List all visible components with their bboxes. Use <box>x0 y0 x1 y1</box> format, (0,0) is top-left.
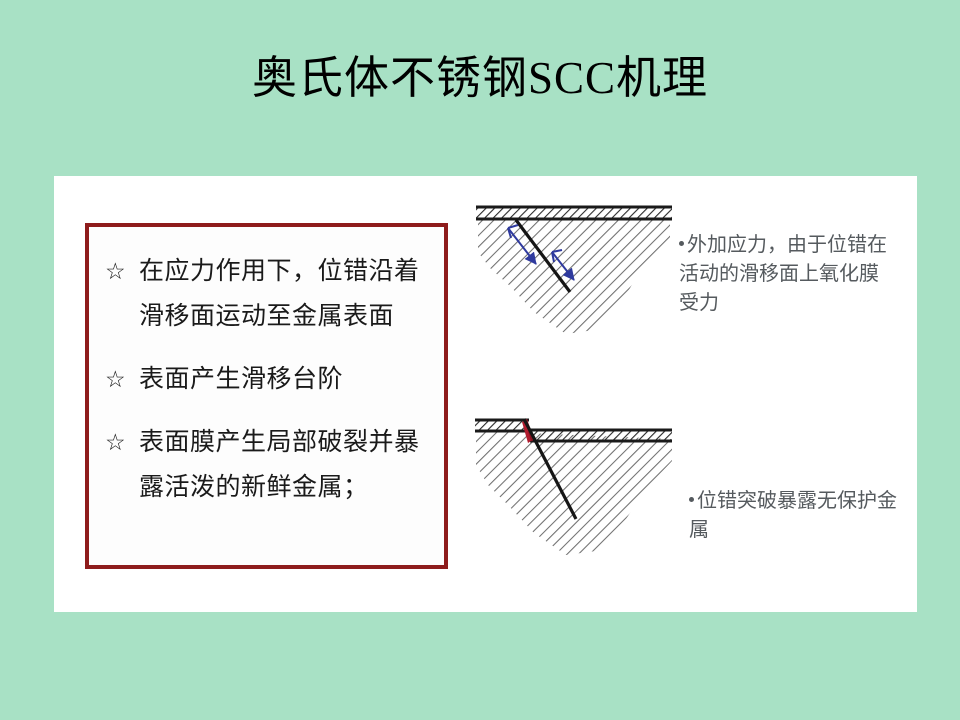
star-icon: ☆ <box>105 357 126 402</box>
list-item: ☆ 表面膜产生局部破裂并暴露活泼的新鲜金属； <box>105 420 430 510</box>
diagram-dislocation-breakthrough <box>474 409 674 579</box>
bullet-dot-icon <box>679 241 684 246</box>
figure-caption: 位错突破暴露无保护金属 <box>689 487 904 545</box>
figure-column: 外加应力，由于位错在活动的滑移面上氧化膜受力 <box>474 194 904 604</box>
figure-caption: 外加应力，由于位错在活动的滑移面上氧化膜受力 <box>679 231 894 318</box>
list-item: ☆ 表面产生滑移台阶 <box>105 357 430 402</box>
star-icon: ☆ <box>105 420 126 465</box>
oxide-film-band <box>476 207 672 219</box>
figure-dislocation-breakthrough: 位错突破暴露无保护金属 <box>474 409 904 594</box>
slide-root: 奥氏体不锈钢SCC机理 ☆ 在应力作用下，位错沿着滑移面运动至金属表面 ☆ 表面… <box>0 0 960 720</box>
figure-stress-on-oxide-film: 外加应力，由于位错在活动的滑移面上氧化膜受力 <box>474 194 904 379</box>
list-item-text: 表面产生滑移台阶 <box>139 366 343 393</box>
oxide-film-right-segment <box>530 430 672 441</box>
diagram-stress-on-oxide-film <box>474 194 674 364</box>
oxide-film-left-segment <box>475 420 529 431</box>
figure-caption-text: 外加应力，由于位错在活动的滑移面上氧化膜受力 <box>679 234 887 314</box>
metal-bulk-hatching <box>476 431 672 555</box>
bullet-dot-icon <box>689 497 694 502</box>
list-item-text: 表面膜产生局部破裂并暴露活泼的新鲜金属； <box>139 429 420 501</box>
bullet-list: ☆ 在应力作用下，位错沿着滑移面运动至金属表面 ☆ 表面产生滑移台阶 ☆ 表面膜… <box>105 249 430 510</box>
content-panel: ☆ 在应力作用下，位错沿着滑移面运动至金属表面 ☆ 表面产生滑移台阶 ☆ 表面膜… <box>54 176 917 612</box>
page-title: 奥氏体不锈钢SCC机理 <box>0 50 960 106</box>
bullet-card: ☆ 在应力作用下，位错沿着滑移面运动至金属表面 ☆ 表面产生滑移台阶 ☆ 表面膜… <box>85 223 448 569</box>
metal-bulk-hatching <box>478 220 670 334</box>
star-icon: ☆ <box>105 249 126 294</box>
figure-caption-text: 位错突破暴露无保护金属 <box>689 490 897 541</box>
list-item: ☆ 在应力作用下，位错沿着滑移面运动至金属表面 <box>105 249 430 339</box>
list-item-text: 在应力作用下，位错沿着滑移面运动至金属表面 <box>139 258 420 330</box>
